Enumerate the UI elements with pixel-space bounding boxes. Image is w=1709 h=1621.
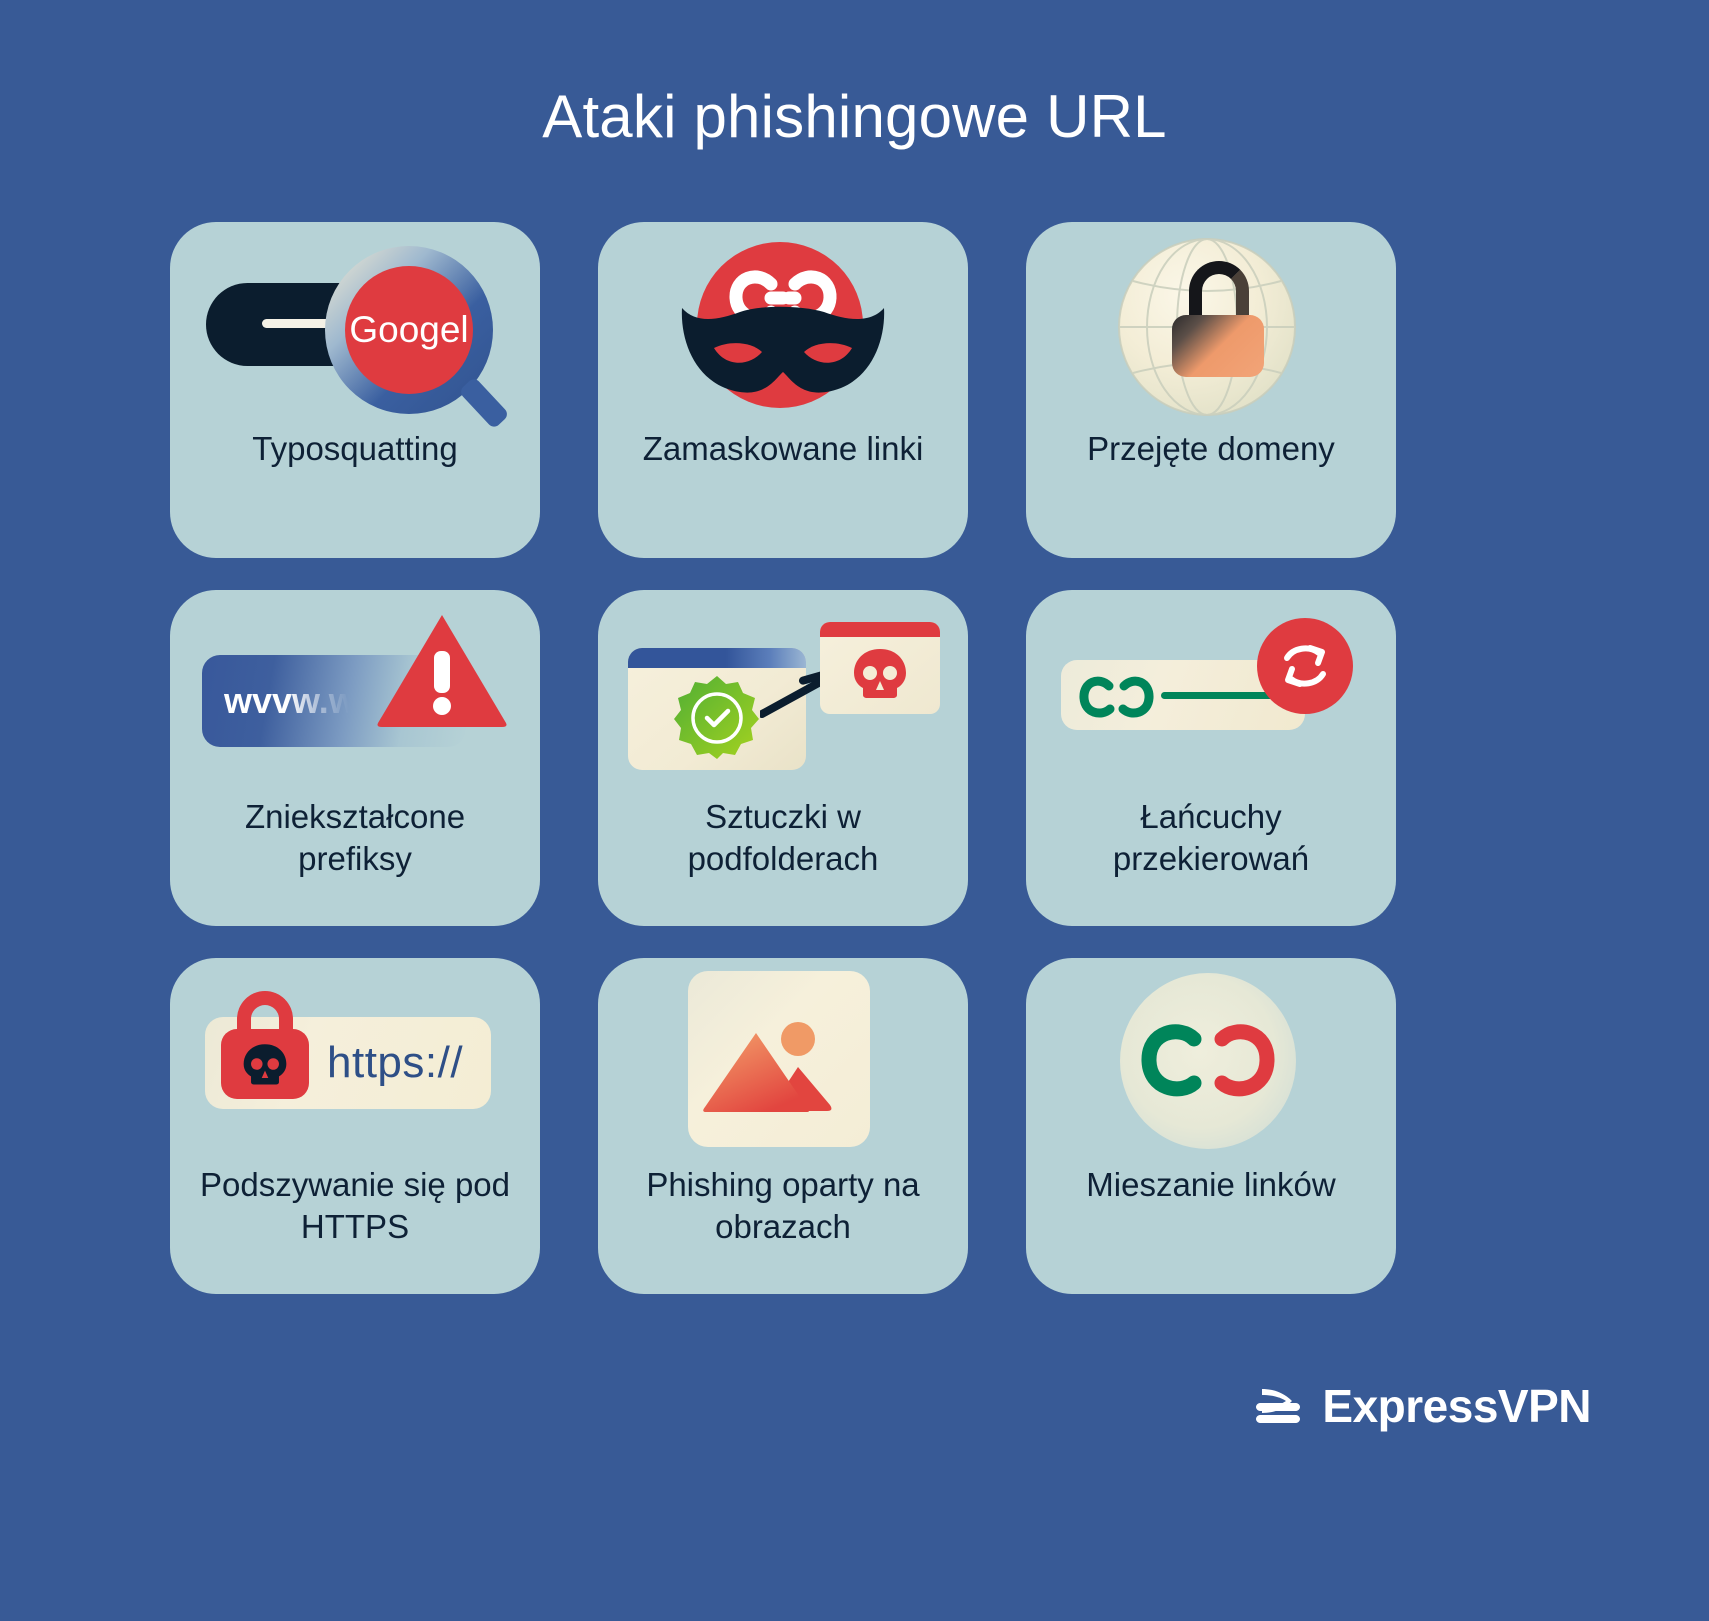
brand-name: ExpressVPN bbox=[1322, 1379, 1591, 1433]
https-text: https:// bbox=[327, 1038, 463, 1088]
fake-url-text: wvvw.w bbox=[224, 680, 357, 722]
image-frame bbox=[688, 971, 870, 1147]
icon-image-placeholder bbox=[598, 958, 968, 1164]
card-link-mixing[interactable]: Mieszanie linków bbox=[1026, 958, 1396, 1294]
padlock-body bbox=[221, 1029, 309, 1099]
attack-card-grid: Googel Typosquatting bbox=[170, 222, 1570, 1294]
icon-green-red-chain bbox=[1026, 958, 1396, 1164]
infographic-page: Ataki phishingowe URL Googel Typosquatti… bbox=[0, 0, 1709, 1621]
mountain-sun-icon bbox=[688, 971, 870, 1147]
window-titlebar bbox=[628, 648, 806, 668]
card-image-phishing[interactable]: Phishing oparty na obrazach bbox=[598, 958, 968, 1294]
warning-triangle-icon bbox=[376, 611, 508, 729]
card-typosquatting[interactable]: Googel Typosquatting bbox=[170, 222, 540, 558]
card-masked-links[interactable]: Zamaskowane linki bbox=[598, 222, 968, 558]
magnifier-lens: Googel bbox=[345, 266, 473, 394]
card-label: Zamaskowane linki bbox=[629, 428, 938, 470]
expressvpn-logo-icon bbox=[1250, 1377, 1308, 1435]
open-padlock-icon bbox=[1172, 261, 1264, 377]
card-subfolder-tricks[interactable]: Sztuczki w podfolderach bbox=[598, 590, 968, 926]
icon-carnival-mask-broken-link bbox=[598, 222, 968, 428]
skull-icon bbox=[852, 647, 908, 699]
card-label: Sztuczki w podfolderach bbox=[598, 796, 968, 880]
carnival-mask-icon bbox=[678, 300, 888, 400]
icon-window-to-skull-window bbox=[598, 590, 968, 796]
icon-url-bar-warning: wvvw.w bbox=[170, 590, 540, 796]
redirect-loop-badge bbox=[1257, 618, 1353, 714]
card-https-spoofing[interactable]: https:// bbox=[170, 958, 540, 1294]
skull-icon bbox=[242, 1042, 288, 1086]
typo-brand-text: Googel bbox=[349, 309, 468, 351]
icon-padlock-skull-https: https:// bbox=[170, 958, 540, 1164]
green-chain-link-icon bbox=[1079, 676, 1155, 720]
magnifier-handle bbox=[458, 376, 510, 429]
refresh-arrows-icon bbox=[1277, 638, 1333, 694]
icon-link-bar-redirect bbox=[1026, 590, 1396, 796]
icon-magnifier-search-bar: Googel bbox=[170, 222, 540, 428]
card-label: Przejęte domeny bbox=[1073, 428, 1349, 470]
page-title: Ataki phishingowe URL bbox=[0, 82, 1709, 151]
card-label: Typosquatting bbox=[238, 428, 471, 470]
red-padlock-icon bbox=[221, 991, 309, 1099]
card-hijacked-domains[interactable]: Przejęte domeny bbox=[1026, 222, 1396, 558]
verified-badge-icon bbox=[674, 674, 760, 760]
card-distorted-prefixes[interactable]: wvvw.w Zniekształcone prefiksy bbox=[170, 590, 540, 926]
malicious-browser-window bbox=[820, 622, 940, 714]
card-label: Zniekształcone prefiksy bbox=[170, 796, 540, 880]
mixed-chain-links-icon bbox=[1136, 1023, 1280, 1099]
padlock-shackle bbox=[1189, 261, 1249, 323]
card-label: Łańcuchy przekierowań bbox=[1026, 796, 1396, 880]
card-label: Phishing oparty na obrazach bbox=[598, 1164, 968, 1248]
card-label: Podszywanie się pod HTTPS bbox=[170, 1164, 540, 1248]
padlock-body bbox=[1172, 315, 1264, 377]
icon-globe-open-padlock bbox=[1026, 222, 1396, 428]
card-label: Mieszanie linków bbox=[1072, 1164, 1349, 1206]
card-redirect-chains[interactable]: Łańcuchy przekierowań bbox=[1026, 590, 1396, 926]
window-titlebar-malicious bbox=[820, 622, 940, 637]
expressvpn-logo[interactable]: ExpressVPN bbox=[1250, 1377, 1591, 1435]
